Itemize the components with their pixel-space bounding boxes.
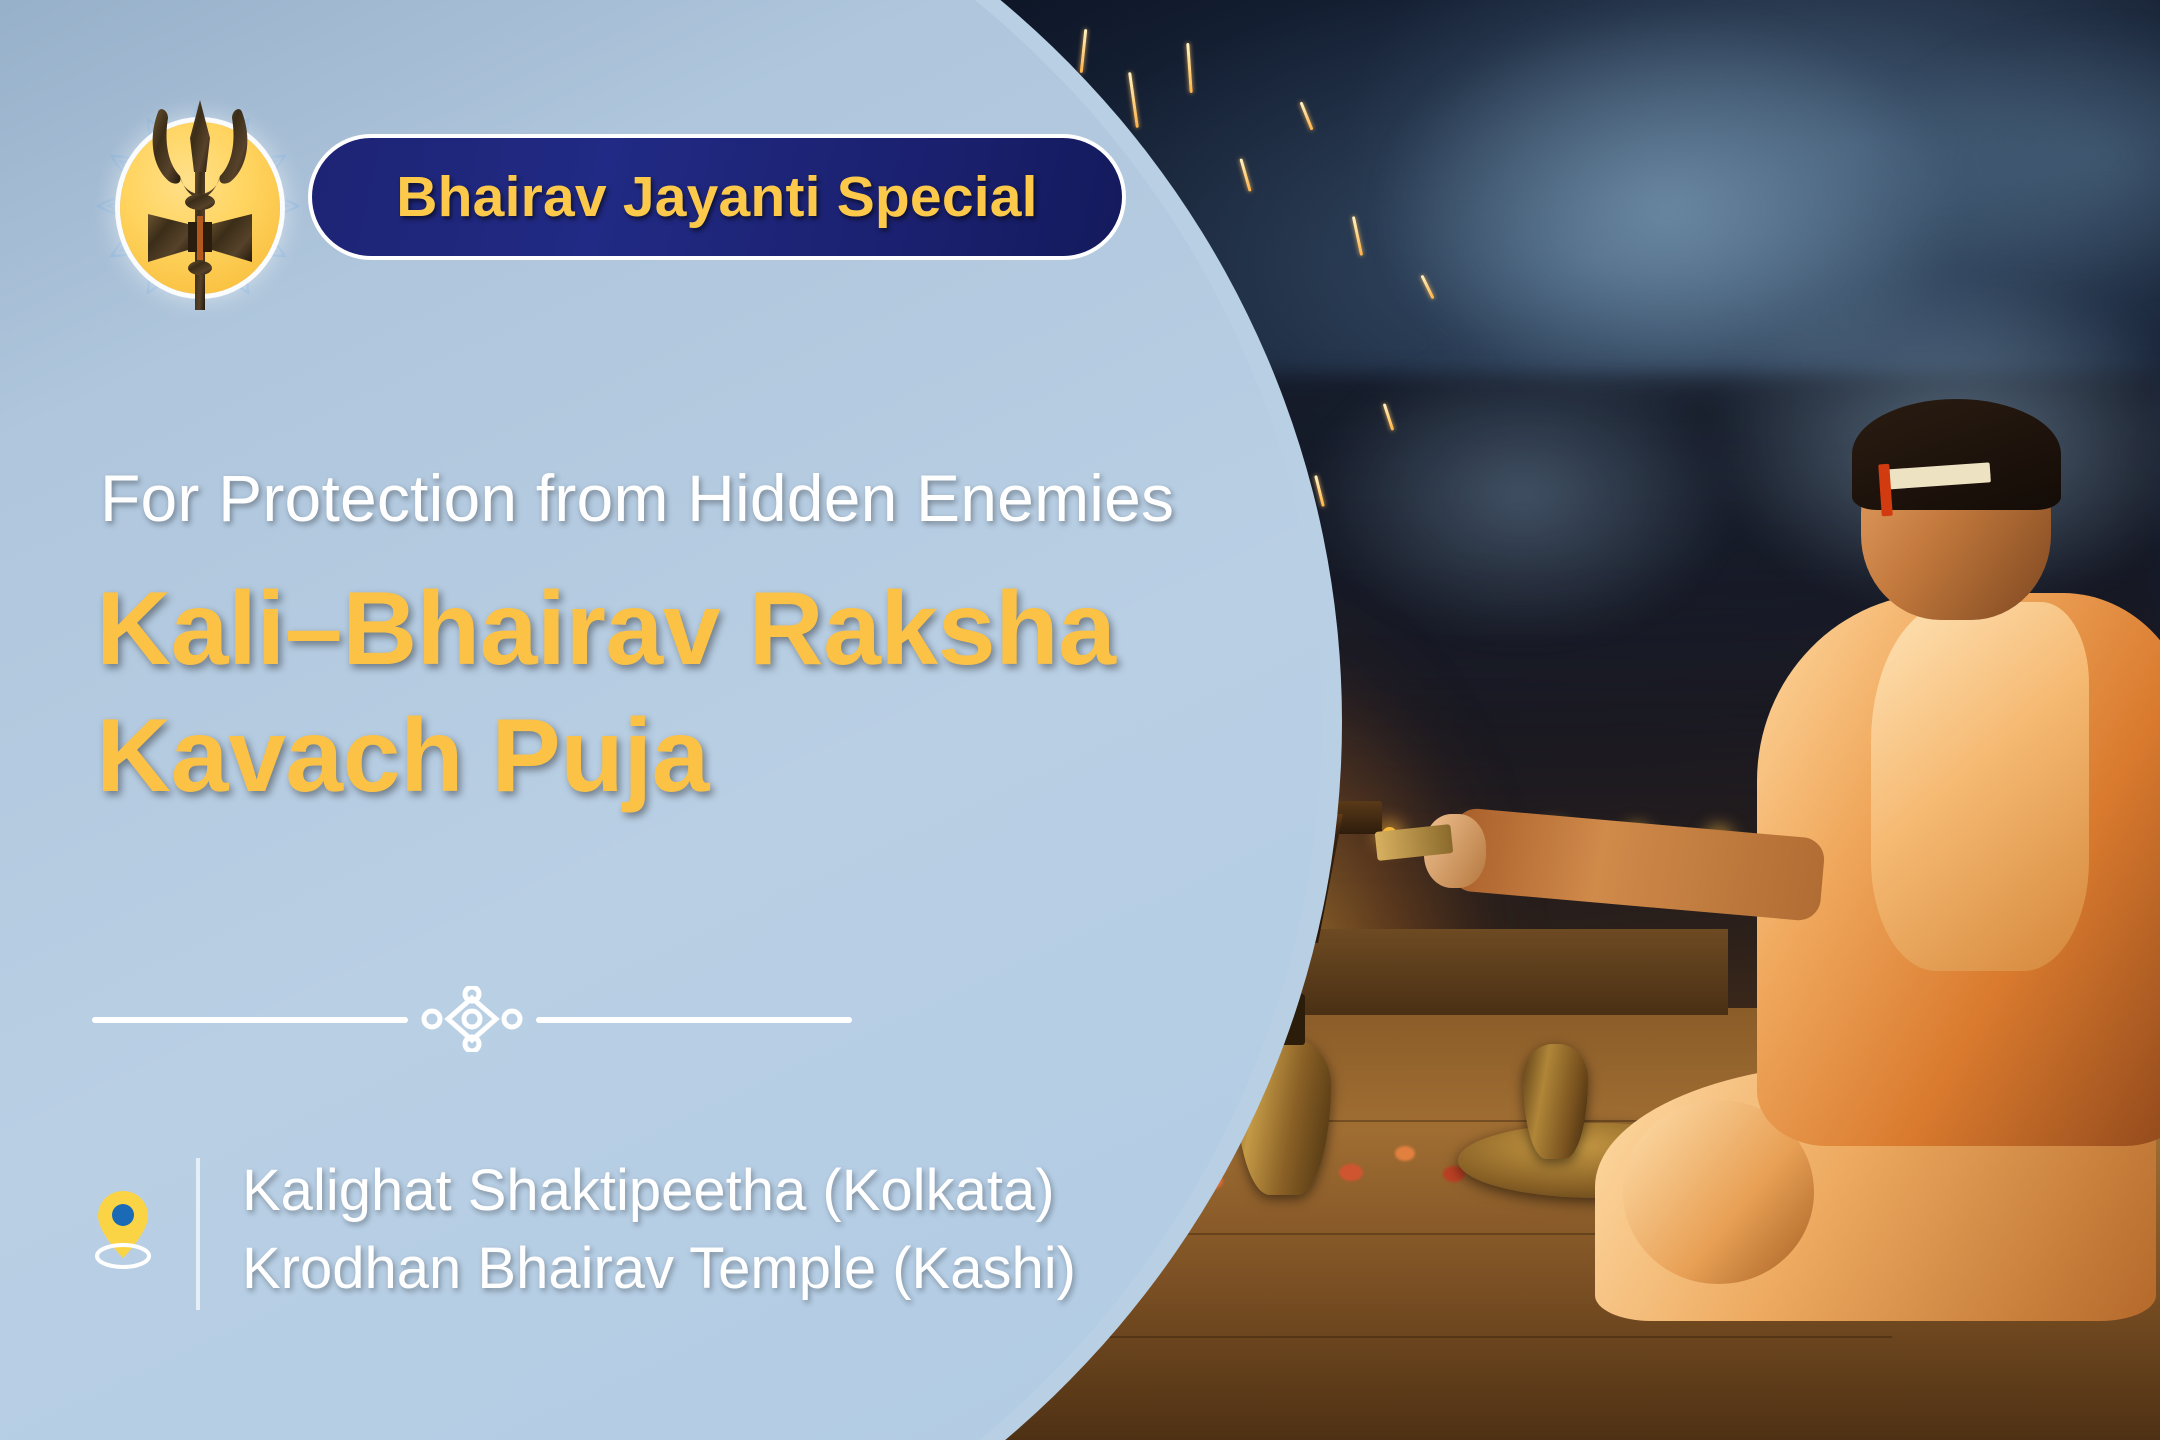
location-list: Kalighat Shaktipeetha (Kolkata) Krodhan … bbox=[242, 1152, 1076, 1307]
location-item: Krodhan Bhairav Temple (Kashi) bbox=[242, 1230, 1076, 1308]
brass-vessel bbox=[1523, 1044, 1588, 1159]
priest-shawl bbox=[1871, 602, 2090, 971]
title-line-2: Kavach Puja bbox=[96, 693, 1115, 820]
title-line-1: Kali–Bhairav Raksha bbox=[96, 571, 1115, 687]
divider bbox=[92, 986, 852, 1052]
divider-line-right bbox=[536, 1017, 852, 1023]
location-pin-icon bbox=[92, 1188, 154, 1270]
badge-label: Bhairav Jayanti Special bbox=[396, 164, 1037, 230]
spark bbox=[1240, 159, 1252, 193]
bhairav-jayanti-badge[interactable]: Bhairav Jayanti Special bbox=[308, 134, 1126, 260]
location-rule bbox=[196, 1158, 200, 1310]
spark bbox=[1186, 43, 1192, 93]
location-item: Kalighat Shaktipeetha (Kolkata) bbox=[242, 1152, 1076, 1230]
location-block: Kalighat Shaktipeetha (Kolkata) Krodhan … bbox=[92, 1158, 1092, 1310]
trishul-icon bbox=[118, 98, 282, 310]
divider-line-left bbox=[92, 1017, 408, 1023]
diamond-ornament-icon bbox=[416, 986, 528, 1052]
page-title: Kali–Bhairav Raksha Kavach Puja bbox=[96, 566, 1115, 820]
trishul-damaru-icon bbox=[100, 108, 296, 304]
subtitle: For Protection from Hidden Enemies bbox=[100, 460, 1174, 536]
content-area: Bhairav Jayanti Special For Protection f… bbox=[0, 0, 1180, 1440]
bhairav-jayanti-banner: Bhairav Jayanti Special For Protection f… bbox=[0, 0, 2160, 1440]
priest-figure bbox=[1728, 418, 2160, 1340]
flower-offering bbox=[1339, 1164, 1363, 1181]
